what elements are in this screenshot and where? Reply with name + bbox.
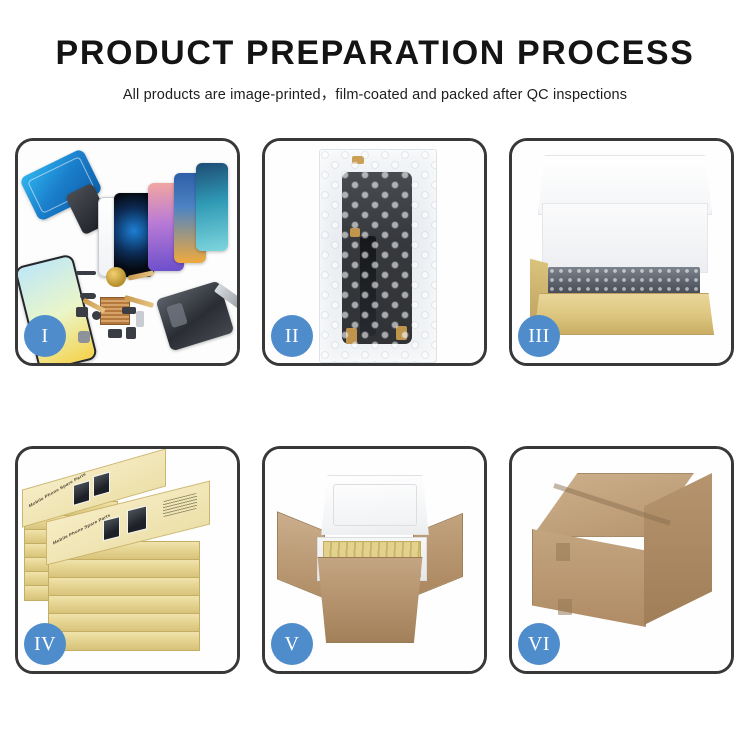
step-panel-1: I [15, 138, 240, 366]
step-badge-5: V [271, 623, 313, 665]
process-steps-grid: I II [15, 138, 735, 674]
box-window-front-2 [127, 505, 147, 534]
box-stack-front-3 [48, 577, 200, 597]
bubble-wrap-bag [319, 149, 437, 363]
part-connector-1 [76, 271, 96, 275]
carton-tape-lower [558, 599, 572, 615]
step-panel-6: VI [509, 446, 734, 674]
box-stack-front-6 [48, 631, 200, 651]
part-connector-4 [92, 311, 101, 320]
step-badge-2: II [271, 315, 313, 357]
carton-front-face [532, 529, 646, 627]
bubble-texture [320, 150, 436, 362]
box-window-rear-1 [73, 480, 90, 506]
step-panel-5: V [262, 446, 487, 674]
teal-wave-phone [196, 163, 228, 251]
carton-tape-upper [556, 543, 570, 561]
box-stack-front-2 [48, 559, 200, 579]
page-subtitle: All products are image-printed，film-coat… [0, 83, 750, 104]
box-stack-front-5 [48, 613, 200, 633]
product-preparation-process-page: PRODUCT PREPARATION PROCESS All products… [0, 0, 750, 750]
box-window-rear-2 [93, 471, 110, 497]
part-connector-5 [108, 329, 122, 338]
step-panel-4: Mobile Phone Spare Parts Mobile Phone Sp… [15, 446, 240, 674]
step-panel-3: III [509, 138, 734, 366]
foam-lid [321, 475, 429, 543]
step-badge-4: IV [24, 623, 66, 665]
step-badge-6: VI [518, 623, 560, 665]
step-badge-3: III [518, 315, 560, 357]
vibration-motor-part [106, 267, 126, 287]
box-spec-lines-front [163, 493, 197, 517]
part-connector-3 [76, 307, 88, 317]
page-title: PRODUCT PREPARATION PROCESS [0, 36, 750, 72]
part-sim-tray [136, 311, 144, 327]
part-connector-6 [126, 327, 136, 339]
carton-body [309, 557, 431, 643]
part-camera-module [78, 331, 90, 343]
box-stack-front-4 [48, 595, 200, 615]
wrapped-units-inside-box [548, 267, 700, 297]
page-header: PRODUCT PREPARATION PROCESS All products… [0, 0, 750, 104]
step-badge-1: I [24, 315, 66, 357]
part-connector-2 [80, 293, 96, 299]
box-window-front-1 [103, 516, 120, 541]
foam-liner [542, 203, 708, 273]
step-panel-2: II [262, 138, 487, 366]
part-connector-7 [122, 307, 136, 314]
box-front-panel [534, 293, 714, 335]
